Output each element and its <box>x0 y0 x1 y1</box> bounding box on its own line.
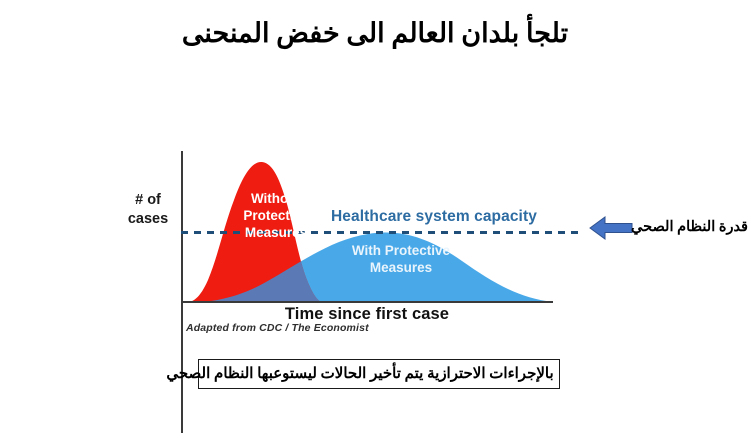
series-label-without-protective-measures: WithoutProtectiveMeasures <box>224 190 328 241</box>
chart-source-note: Adapted from CDC / The Economist <box>186 322 369 334</box>
x-axis-line <box>181 301 553 303</box>
y-axis-label-line1: # ofcases <box>128 192 168 227</box>
flatten-the-curve-chart: Healthcare system capacity # ofcases Tim… <box>0 130 750 345</box>
caption-text-arabic: بالإجراءات الاحترازية يتم تأخير الحالات … <box>150 363 570 385</box>
page-title: تلجأ بلدان العالم الى خفض المنحنى <box>0 16 750 50</box>
y-axis-line <box>181 151 183 433</box>
y-axis-label: # ofcases <box>118 191 178 229</box>
capacity-annotation-arabic: قدرة النظام الصحي <box>631 217 748 237</box>
arrow-left-icon <box>588 215 634 241</box>
series-label-with-protective-measures: With ProtectiveMeasures <box>337 242 465 276</box>
healthcare-capacity-label: Healthcare system capacity <box>331 208 537 226</box>
